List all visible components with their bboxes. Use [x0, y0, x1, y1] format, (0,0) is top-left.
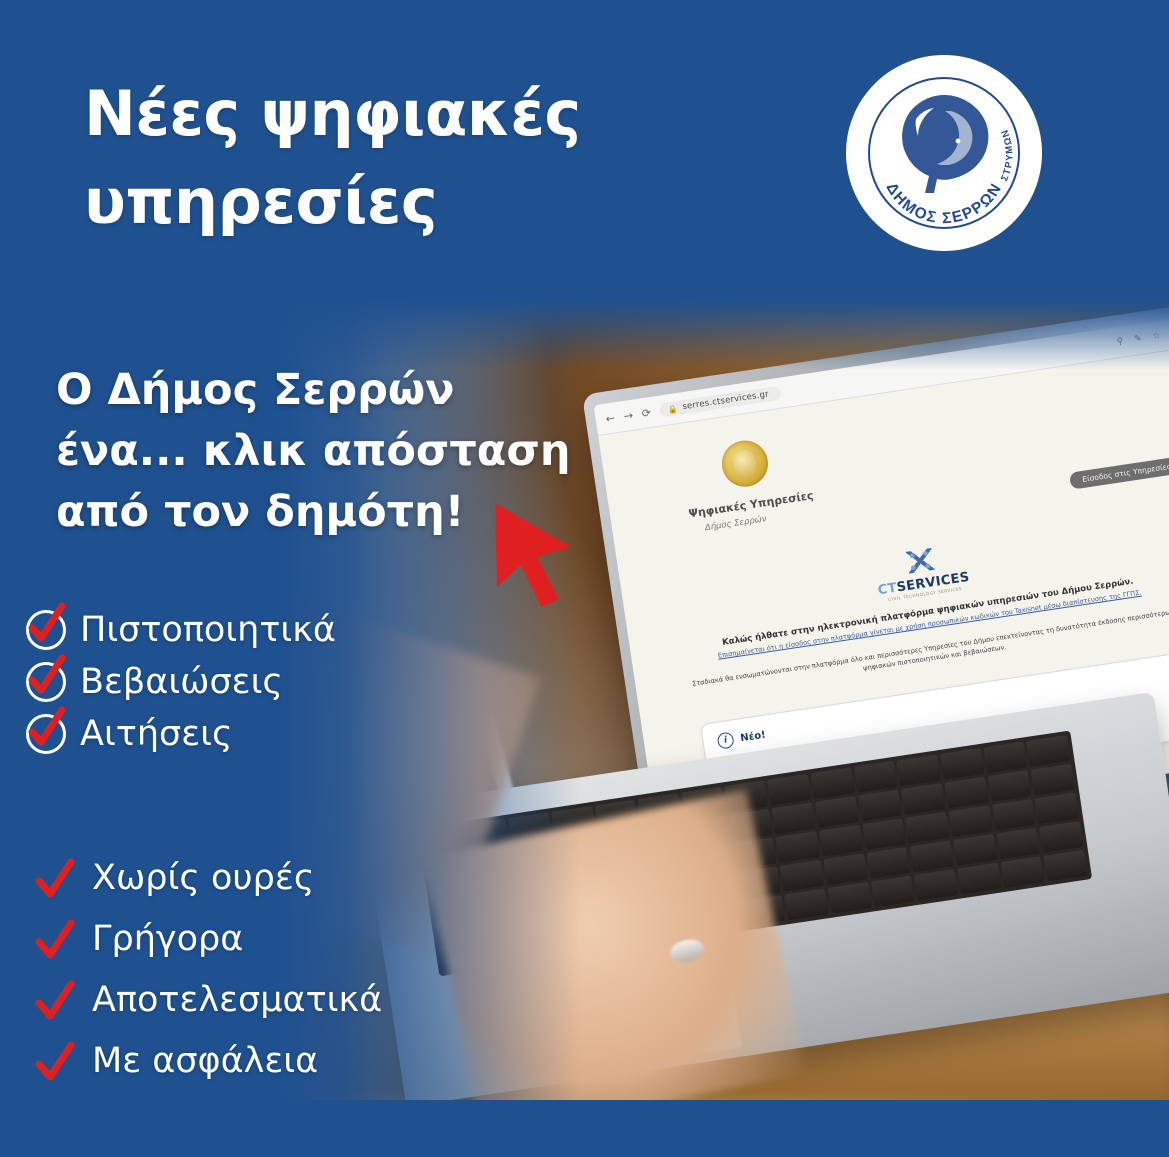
- circled-check-icon: [26, 714, 66, 754]
- subtitle-line-2: ένα... κλικ απόσταση: [56, 421, 616, 482]
- url-text: serres.ctservices.gr: [682, 389, 770, 412]
- list-item-label: Βεβαιώσεις: [80, 665, 283, 700]
- site-subtitle: Δήμος Σερρών: [704, 514, 767, 533]
- check-icon: [34, 979, 76, 1023]
- list-item: Αποτελεσματικά: [34, 970, 382, 1031]
- circled-check-icon: [26, 610, 66, 650]
- reload-icon[interactable]: ⟳: [641, 407, 652, 419]
- circled-check-icon: [26, 662, 66, 702]
- ctservices-mark-icon: [906, 548, 935, 574]
- services-checklist: Πιστοποιητικά Βεβαιώσεις Αιτήσεις: [26, 604, 336, 760]
- list-item-label: Αποτελεσματικά: [92, 983, 382, 1018]
- list-item-label: Αιτήσεις: [80, 717, 233, 752]
- login-button[interactable]: Είσοδος στις Υπηρεσίες: [1069, 456, 1169, 490]
- svg-text:ΣΤΡΥΜΩΝ: ΣΤΡΥΜΩΝ: [999, 127, 1015, 183]
- list-item: Βεβαιώσεις: [26, 656, 336, 708]
- info-circle-icon: i: [717, 731, 735, 749]
- subtitle-line-1: Ο Δήμος Σερρών: [56, 360, 616, 421]
- list-item-label: Πιστοποιητικά: [80, 613, 336, 648]
- page-title: Νέες ψηφιακές υπηρεσίες: [84, 70, 724, 246]
- list-item: Αιτήσεις: [26, 708, 336, 760]
- crest-bottom-text: ΔΗΜΟΣ ΣΕΡΡΩΝ: [882, 180, 1005, 227]
- crest-artwork: ΔΗΜΟΣ ΣΕΡΡΩΝ ΣΤΡΥΜΩΝ: [846, 55, 1042, 251]
- notice-heading: Νέο!: [740, 729, 767, 744]
- mouse-cursor-arrow-icon: [485, 495, 605, 615]
- title-line-2: υπηρεσίες: [84, 158, 724, 246]
- list-item: Γρήγορα: [34, 909, 382, 970]
- check-icon: [34, 1040, 76, 1084]
- list-item-label: Γρήγορα: [92, 922, 243, 957]
- advantages-checklist: Χωρίς ουρές Γρήγορα Αποτελεσματικά Με ασ…: [34, 848, 382, 1092]
- svg-text:ΔΗΜΟΣ ΣΕΡΡΩΝ: ΔΗΜΟΣ ΣΕΡΡΩΝ: [882, 180, 1005, 227]
- municipality-crest: ΔΗΜΟΣ ΣΕΡΡΩΝ ΣΤΡΥΜΩΝ: [846, 55, 1042, 251]
- check-icon: [34, 918, 76, 962]
- list-item: Πιστοποιητικά: [26, 604, 336, 656]
- site-medallion-logo: [719, 438, 771, 490]
- poster: ← → ⟳ 🔒 serres.ctservices.gr ⚲ ✎ ☆ ♨: [0, 0, 1169, 1157]
- lock-icon: 🔒: [667, 404, 678, 414]
- crest-arc-text: ΣΤΡΥΜΩΝ: [999, 127, 1015, 183]
- list-item: Με ασφάλεια: [34, 1031, 382, 1092]
- forward-icon[interactable]: →: [623, 409, 634, 421]
- list-item-label: Χωρίς ουρές: [92, 861, 314, 896]
- check-icon: [34, 857, 76, 901]
- title-line-1: Νέες ψηφιακές: [84, 70, 724, 158]
- list-item: Χωρίς ουρές: [34, 848, 382, 909]
- list-item-label: Με ασφάλεια: [92, 1044, 318, 1079]
